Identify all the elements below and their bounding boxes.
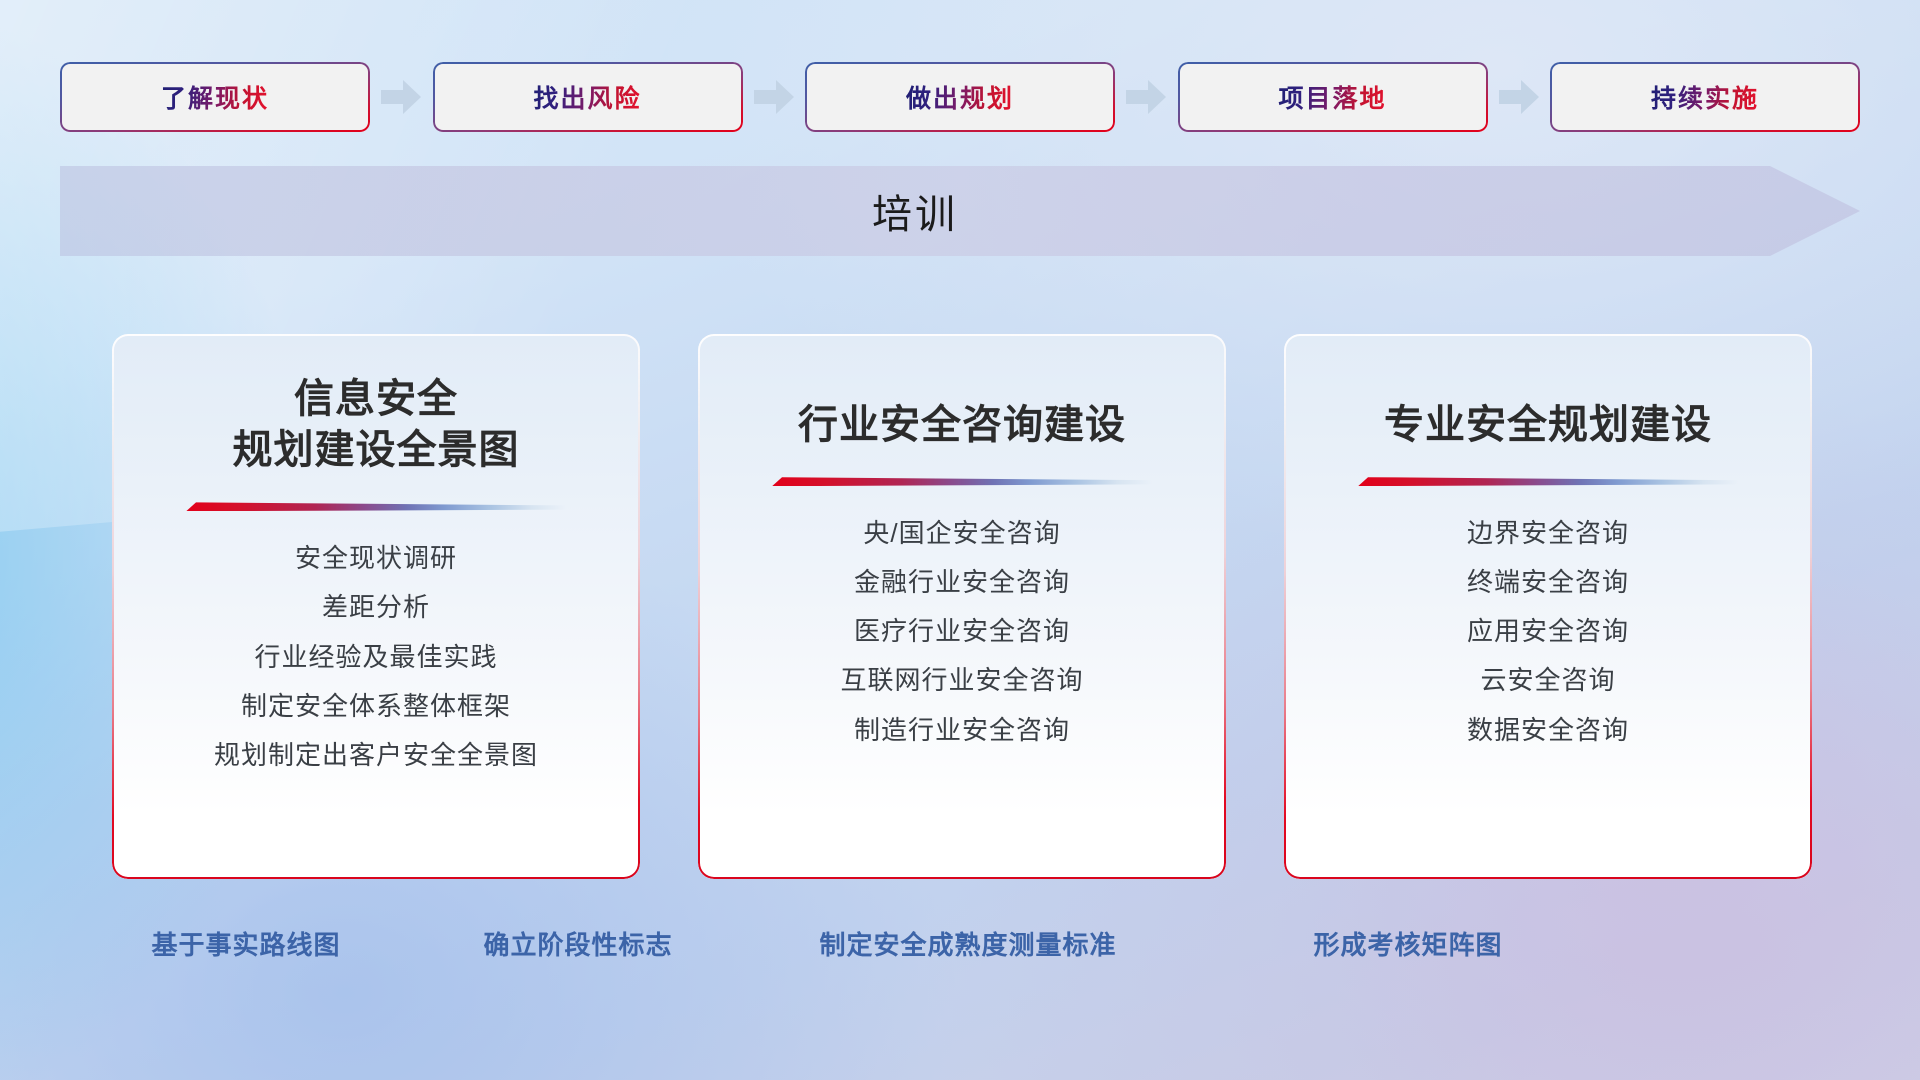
card-content: 行业安全咨询建设 央/国企安全咨询 金融行业安全咨询 医疗行业安全咨询 互联网行… [698,334,1226,879]
process-step-2[interactable]: 找出风险 [433,62,743,132]
caption-item: 制定安全成熟度测量标准 [819,925,1116,962]
process-step-5[interactable]: 持续实施 [1550,62,1860,132]
card-professional-security-planning[interactable]: 专业安全规划建设 边界安全咨询 终端安全咨询 应用安全咨询 云安全咨询 数据安全… [1284,334,1812,879]
list-item: 制定安全体系整体框架 [241,689,511,724]
list-item: 安全现状调研 [295,541,457,576]
process-step-label: 项目落地 [1278,79,1386,115]
process-step-4[interactable]: 项目落地 [1178,62,1488,132]
training-banner: 培训 [60,166,1860,256]
process-step-label: 了解现状 [161,79,269,115]
process-step-row: 了解现状 找出风险 做出规划 项目落地 [60,62,1860,132]
caption-item: 形成考核矩阵图 [1313,925,1502,962]
card-list: 央/国企安全咨询 金融行业安全咨询 医疗行业安全咨询 互联网行业安全咨询 制造行… [840,516,1083,747]
card-information-security-blueprint[interactable]: 信息安全 规划建设全景图 安全现状调研 差距分析 行业经验及最佳实践 制定安全体… [112,334,640,879]
card-content: 信息安全 规划建设全景图 安全现状调研 差距分析 行业经验及最佳实践 制定安全体… [112,334,640,879]
caption-row: 基于事实路线图 确立阶段性标志 制定安全成熟度测量标准 形成考核矩阵图 [0,925,1920,975]
card-list: 安全现状调研 差距分析 行业经验及最佳实践 制定安全体系整体框架 规划制定出客户… [214,541,538,772]
list-item: 边界安全咨询 [1467,516,1629,551]
caption-item: 基于事实路线图 [151,925,340,962]
list-item: 制造行业安全咨询 [854,713,1070,748]
list-item: 金融行业安全咨询 [854,565,1070,600]
card-divider [1358,477,1738,486]
process-step-3[interactable]: 做出规划 [805,62,1115,132]
card-list: 边界安全咨询 终端安全咨询 应用安全咨询 云安全咨询 数据安全咨询 [1467,516,1629,747]
list-item: 终端安全咨询 [1467,565,1629,600]
arrow-right-icon [752,75,796,119]
card-row: 信息安全 规划建设全景图 安全现状调研 差距分析 行业经验及最佳实践 制定安全体… [112,334,1812,879]
arrow-right-icon [379,75,423,119]
arrow-right-icon [1497,75,1541,119]
list-item: 规划制定出客户安全全景图 [214,738,538,773]
card-divider [772,477,1152,486]
card-title: 信息安全 规划建设全景图 [233,374,520,476]
card-title: 行业安全咨询建设 [798,400,1126,451]
slide-canvas: 了解现状 找出风险 做出规划 项目落地 [0,0,1920,1080]
list-item: 应用安全咨询 [1467,614,1629,649]
process-step-label: 持续实施 [1651,79,1759,115]
arrow-right-icon [1124,75,1168,119]
list-item: 互联网行业安全咨询 [840,663,1083,698]
banner-title: 培训 [60,166,1860,256]
card-industry-security-consulting[interactable]: 行业安全咨询建设 央/国企安全咨询 金融行业安全咨询 医疗行业安全咨询 互联网行… [698,334,1226,879]
caption-item: 确立阶段性标志 [483,925,672,962]
card-title: 专业安全规划建设 [1384,400,1712,451]
process-step-label: 找出风险 [533,79,641,115]
list-item: 医疗行业安全咨询 [854,614,1070,649]
list-item: 云安全咨询 [1480,663,1615,698]
process-step-label: 做出规划 [906,79,1014,115]
list-item: 央/国企安全咨询 [863,516,1060,551]
list-item: 差距分析 [322,590,430,625]
card-divider [186,502,566,511]
card-content: 专业安全规划建设 边界安全咨询 终端安全咨询 应用安全咨询 云安全咨询 数据安全… [1284,334,1812,879]
list-item: 行业经验及最佳实践 [254,640,497,675]
process-step-1[interactable]: 了解现状 [60,62,370,132]
list-item: 数据安全咨询 [1467,713,1629,748]
